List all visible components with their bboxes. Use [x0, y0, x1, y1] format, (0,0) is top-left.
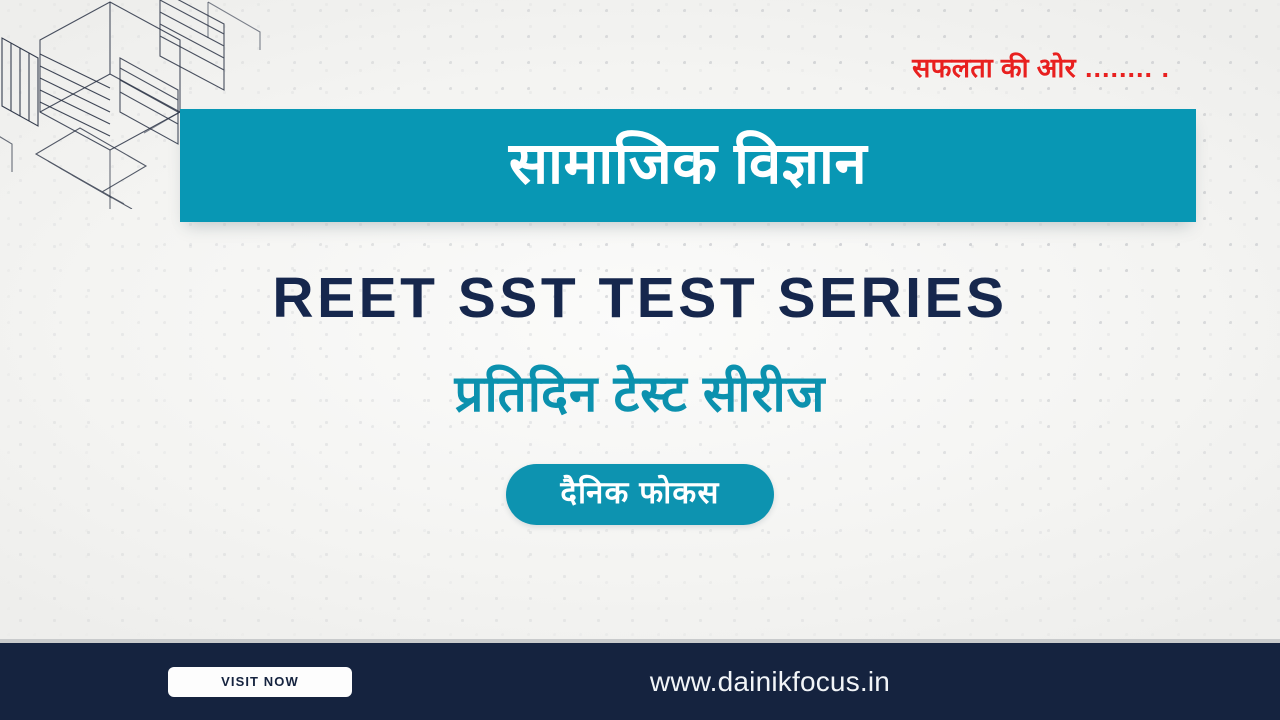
footer-bar: VISIT NOW www.dainikfocus.in [0, 643, 1280, 720]
subject-banner-title: सामाजिक विज्ञान [509, 135, 867, 193]
promo-poster: सफलता की ओर ........ . सामाजिक विज्ञान R… [0, 0, 1280, 720]
tagline: सफलता की ओर ........ . [912, 48, 1170, 85]
subtitle-hindi: प्रतिदिन टेस्ट सीरीज [454, 365, 825, 424]
tagline-dots: ........ . [1085, 53, 1170, 84]
subject-banner: सामाजिक विज्ञान [180, 109, 1196, 222]
tagline-text: सफलता की ओर [912, 48, 1076, 85]
page-title: REET SST TEST SERIES [272, 270, 1007, 327]
site-url[interactable]: www.dainikfocus.in [130, 666, 1280, 698]
daily-focus-button[interactable]: दैनिक फोकस [506, 464, 773, 526]
headline-stack: REET SST TEST SERIES प्रतिदिन टेस्ट सीरी… [0, 270, 1280, 525]
